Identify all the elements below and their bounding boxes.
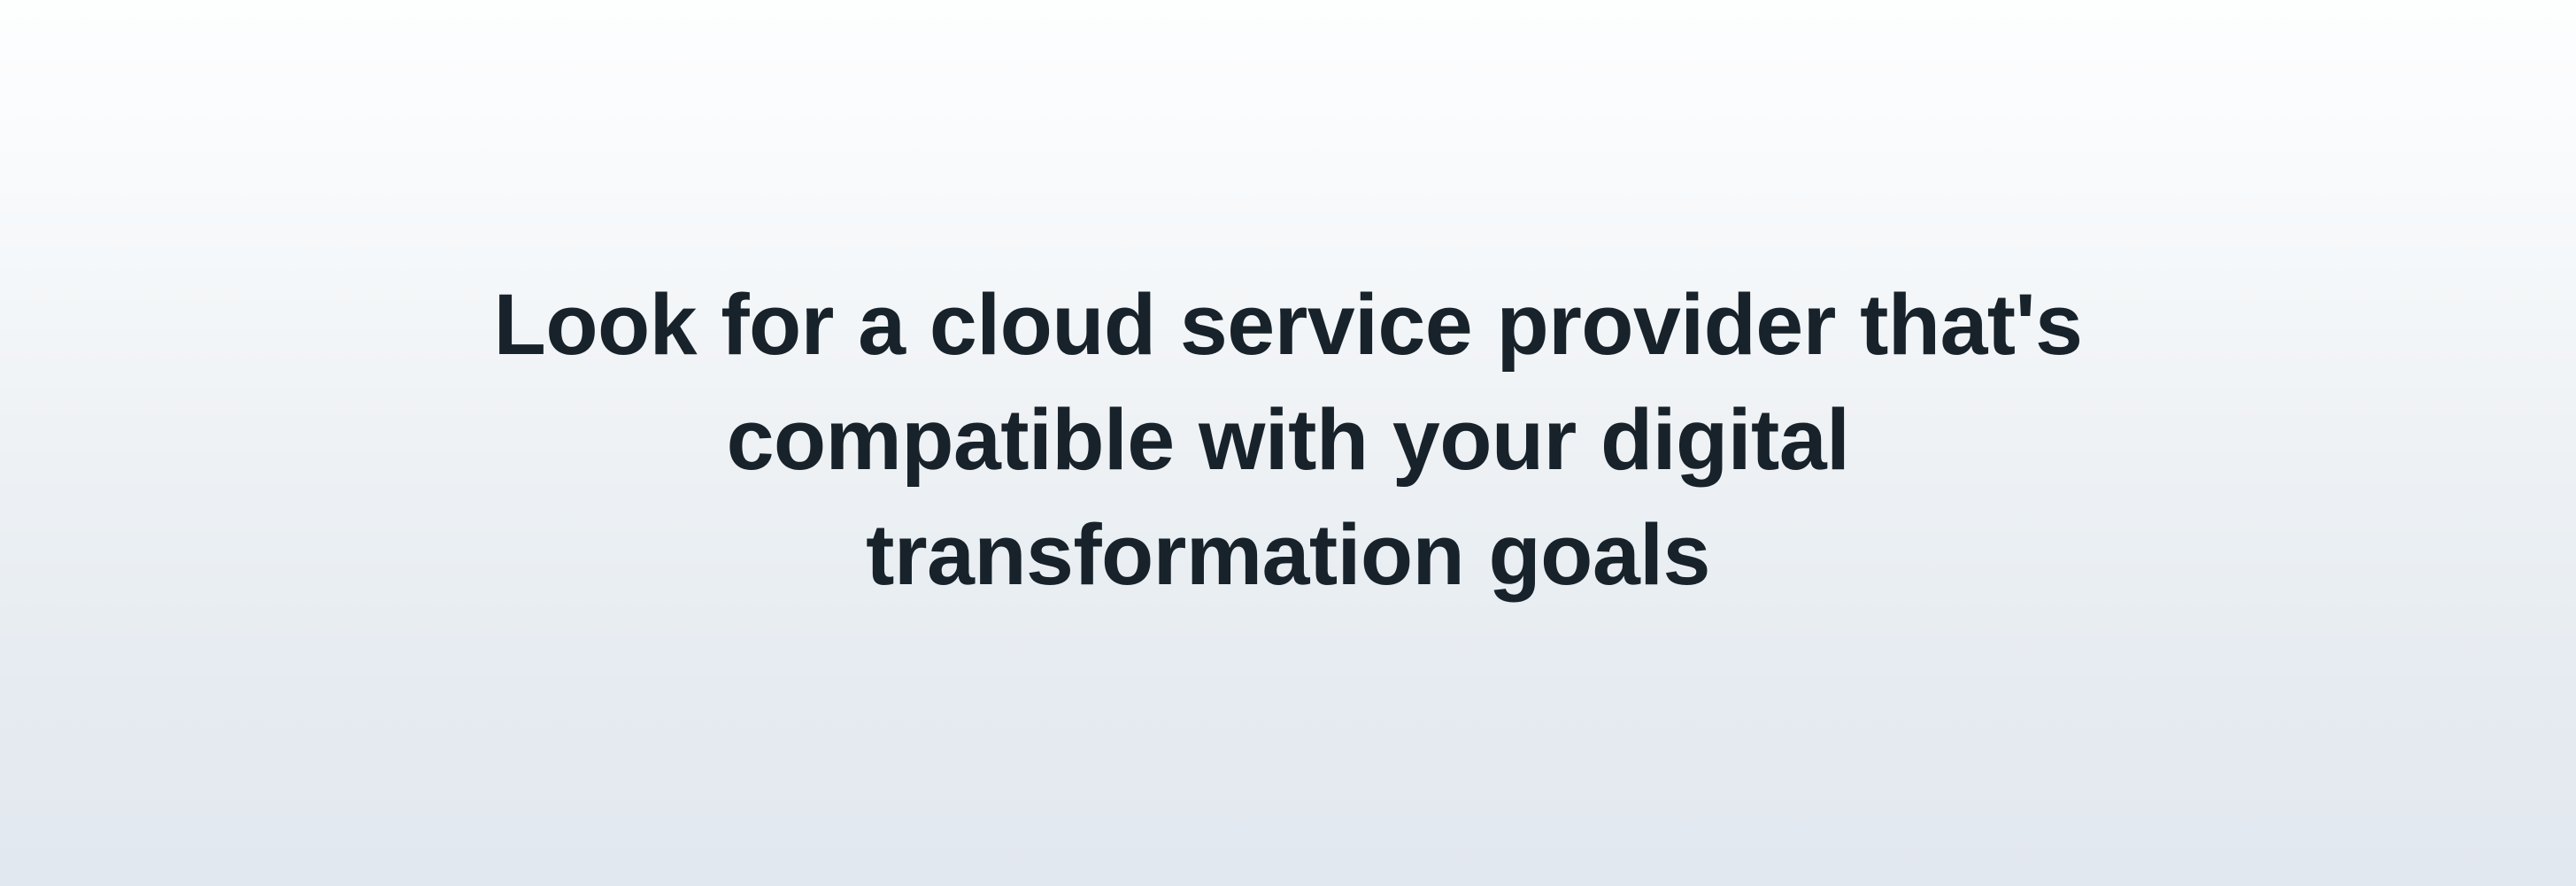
slide-canvas: Look for a cloud service provider that's… [0,0,2576,886]
headline-line-2: compatible with your digital [420,382,2156,497]
headline-line-1: Look for a cloud service provider that's [420,267,2156,382]
page-title: Look for a cloud service provider that's… [420,267,2156,612]
headline-block: Look for a cloud service provider that's… [420,267,2156,612]
headline-line-3: transformation goals [420,497,2156,612]
